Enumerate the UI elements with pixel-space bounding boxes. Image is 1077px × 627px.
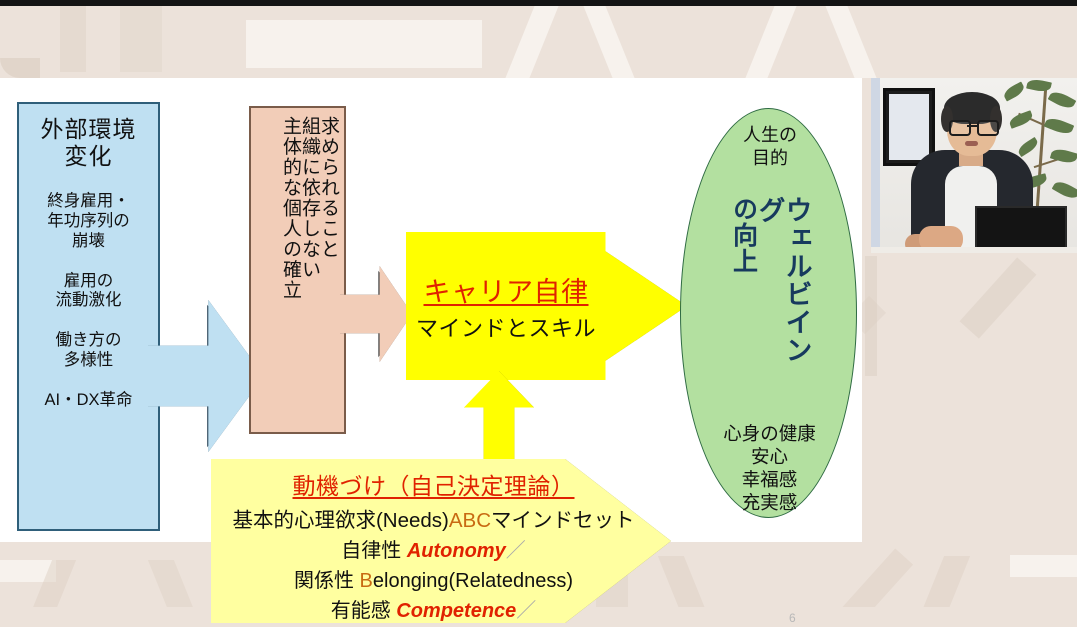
external-env-item-7: AI・DX革命 <box>44 391 132 411</box>
motivation-title: 動機づけ（自己決定理論） <box>293 467 575 501</box>
plant-leaf-9 <box>1052 178 1077 201</box>
bg-shape-right-2 <box>960 257 1037 338</box>
required-qualities-box: 求められること 組織に依存しない 主体的な個人の確立 <box>249 106 346 434</box>
motivation-row-1-initial: B <box>360 570 373 592</box>
motivation-abc: ABC <box>449 509 491 532</box>
bg-shape-right-4 <box>1010 555 1077 577</box>
bg-shape-top-1 <box>246 20 482 68</box>
motivation-row-0-slash: ／ <box>506 540 526 562</box>
motivation-row-0: 自律性 Autonomy／ <box>341 534 525 563</box>
career-arrow-title: キャリア自律 <box>424 270 589 309</box>
motivation-row-1-en: Belonging(Relatedness) <box>360 570 573 592</box>
motivation-row-0-jp: 自律性 <box>341 540 401 562</box>
plant-leaf-5 <box>1044 115 1074 137</box>
wellbeing-vertical-right: ウェルビイング <box>756 196 810 386</box>
glasses-right-lens <box>977 120 999 136</box>
video-left-edge <box>871 78 880 253</box>
motivation-row-2-en: Competence <box>396 600 516 622</box>
external-env-item-4: 流動激化 <box>56 291 122 311</box>
motivation-arrow-text: 動機づけ（自己決定理論） 基本的心理欲求(Needs)ABCマインドセット 自律… <box>211 463 656 627</box>
plant-leaf-1 <box>1002 81 1027 101</box>
pink-column-1: 組織に依存しない <box>300 116 319 432</box>
plant-leaf-7 <box>1050 147 1077 166</box>
slide-page-number: 6 <box>789 611 796 625</box>
bg-shape-top-3 <box>120 6 162 72</box>
wellbeing-top-line1: 人生の <box>700 124 840 147</box>
presenter-video-tile[interactable] <box>871 78 1077 253</box>
plant-leaf-3 <box>1048 89 1077 112</box>
bg-shape-top-4 <box>505 6 558 78</box>
motivation-needs-pre: 基本的心理欲求(Needs) <box>232 509 448 532</box>
blue-right-arrow <box>148 300 264 452</box>
plant-leaf-6 <box>1016 137 1040 157</box>
bg-shape-top-2 <box>60 6 86 72</box>
presentation-slide: 外部環境 変化 終身雇用・ 年功序列の 崩壊 雇用の 流動激化 働き方の 多様性… <box>0 78 862 542</box>
motivation-row-2-jp: 有能感 <box>331 600 391 622</box>
external-env-item-2: 崩壊 <box>72 232 105 252</box>
bg-shape-bot-3 <box>148 560 198 607</box>
plant-leaf-2 <box>1026 78 1052 93</box>
wellbeing-bottom-text: 心身の健康 安心 幸福感 充実感 <box>692 423 847 515</box>
wellbeing-bottom-item-2: 幸福感 <box>692 469 847 492</box>
screen-root: 外部環境 変化 終身雇用・ 年功序列の 崩壊 雇用の 流動激化 働き方の 多様性… <box>0 0 1077 607</box>
bg-shape-top-8 <box>0 58 40 78</box>
motivation-to-career-up-arrow <box>464 371 534 467</box>
career-arrow-subtitle: マインドとスキル <box>416 311 596 343</box>
laptop-screen <box>975 206 1067 253</box>
bg-shape-bot-9 <box>658 556 712 607</box>
external-env-item-3: 雇用の <box>64 272 114 292</box>
external-env-item-5: 働き方の <box>56 331 122 351</box>
wellbeing-bottom-item-0: 心身の健康 <box>692 423 847 446</box>
external-environment-box: 外部環境 変化 終身雇用・ 年功序列の 崩壊 雇用の 流動激化 働き方の 多様性… <box>17 102 160 531</box>
wellbeing-bottom-item-1: 安心 <box>692 446 847 469</box>
external-env-item-6: 多様性 <box>64 351 114 371</box>
motivation-row-1: 関係性 Belonging(Relatedness) <box>294 564 573 593</box>
bg-shape-right-5 <box>835 549 913 607</box>
motivation-row-2-slash: ／ <box>516 600 536 622</box>
motivation-needs-post: マインドセット <box>491 509 635 532</box>
external-env-title-line2: 変化 <box>65 143 113 170</box>
wellbeing-bottom-item-3: 充実感 <box>692 492 847 515</box>
motivation-needs-line: 基本的心理欲求(Needs)ABCマインドセット <box>232 503 634 533</box>
bg-shape-bot-10 <box>916 556 970 607</box>
external-env-title-line1: 外部環境 <box>41 116 137 143</box>
glasses-bridge <box>967 125 977 127</box>
wellbeing-top-line2: 目的 <box>700 147 840 170</box>
bg-shape-top-5 <box>583 6 634 78</box>
external-env-item-1: 年功序列の <box>47 212 130 232</box>
desk-surface <box>871 247 1077 253</box>
pink-right-arrow <box>340 266 412 362</box>
motivation-row-0-en: Autonomy <box>407 540 506 562</box>
motivation-row-1-jp: 関係性 <box>294 570 354 592</box>
pink-column-0: 求められること <box>319 116 338 432</box>
bg-shape-top-7 <box>825 6 876 78</box>
pink-column-2: 主体的な個人の確立 <box>281 116 300 432</box>
bg-shape-top-6 <box>745 6 796 78</box>
presenter-mouth <box>965 141 978 146</box>
motivation-row-2: 有能感 Competence／ <box>331 594 537 623</box>
wellbeing-top-text: 人生の 目的 <box>700 124 840 169</box>
plant-leaf-4 <box>1008 110 1034 129</box>
wellbeing-vertical-left: の向上 <box>731 196 756 386</box>
career-arrow-text: キャリア自律 マインドとスキル <box>406 232 606 380</box>
glasses-left-lens <box>949 120 971 136</box>
wellbeing-vertical-text: ウェルビイング の向上 <box>690 196 850 386</box>
external-env-item-0: 終身雇用・ <box>47 192 130 212</box>
wall-picture-inner <box>889 94 929 160</box>
